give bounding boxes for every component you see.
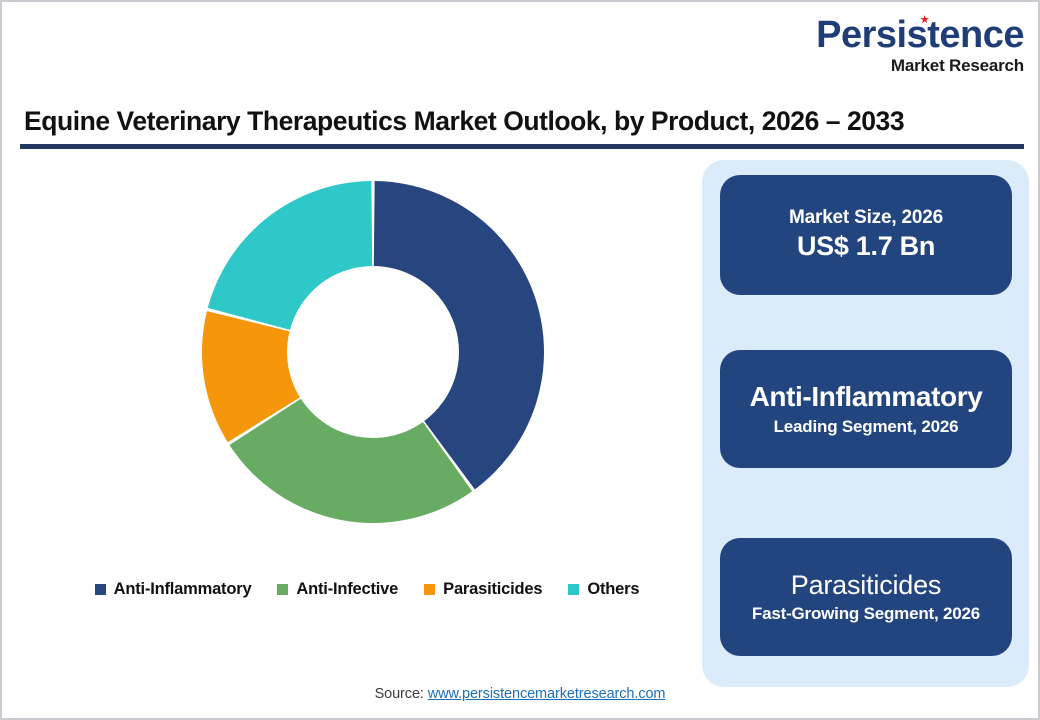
brand-name-text: Persistence xyxy=(816,14,1024,56)
stat-card-market-size[interactable]: Market Size, 2026 US$ 1.7 Bn xyxy=(720,175,1012,295)
legend-item[interactable]: Parasiticides xyxy=(424,580,542,599)
donut-slice-group xyxy=(202,181,544,523)
legend-swatch-icon xyxy=(95,584,106,595)
title-divider xyxy=(20,144,1024,149)
source-prefix: Source: xyxy=(375,686,428,702)
brand-name: Persistence xyxy=(816,16,1024,54)
brand-logo: Persistence Market Research xyxy=(796,16,1024,74)
legend-item[interactable]: Anti-Inflammatory xyxy=(95,580,252,599)
stat-card-3-label: Fast-Growing Segment, 2026 xyxy=(752,603,980,625)
legend-swatch-icon xyxy=(277,584,288,595)
stat-card-3-value: Parasiticides xyxy=(791,569,941,601)
stat-card-1-label: Market Size, 2026 xyxy=(789,206,943,230)
page-title: Equine Veterinary Therapeutics Market Ou… xyxy=(24,106,1014,137)
legend-swatch-icon xyxy=(568,584,579,595)
brand-tagline: Market Research xyxy=(796,57,1024,74)
stat-card-2-label: Leading Segment, 2026 xyxy=(774,416,959,438)
chart-legend: Anti-InflammatoryAnti-InfectiveParasitic… xyxy=(42,580,692,599)
stat-card-1-value: US$ 1.7 Bn xyxy=(797,230,935,264)
source-link[interactable]: www.persistencemarketresearch.com xyxy=(428,686,666,702)
infographic-page: Persistence Market Research Equine Veter… xyxy=(0,0,1040,720)
legend-item-label: Anti-Infective xyxy=(296,580,398,599)
source-note: Source: www.persistencemarketresearch.co… xyxy=(2,686,1038,702)
stat-card-leading-segment[interactable]: Anti-Inflammatory Leading Segment, 2026 xyxy=(720,350,1012,468)
stat-card-fast-growing-segment[interactable]: Parasiticides Fast-Growing Segment, 2026 xyxy=(720,538,1012,656)
legend-item[interactable]: Anti-Infective xyxy=(277,580,398,599)
stat-card-2-value: Anti-Inflammatory xyxy=(750,380,983,414)
legend-item[interactable]: Others xyxy=(568,580,639,599)
legend-item-label: Parasiticides xyxy=(443,580,542,599)
donut-chart xyxy=(2,157,692,557)
legend-swatch-icon xyxy=(424,584,435,595)
donut-slice-others[interactable] xyxy=(208,181,372,330)
stats-panel: Market Size, 2026 US$ 1.7 Bn Anti-Inflam… xyxy=(702,160,1029,687)
donut-chart-svg xyxy=(198,177,548,527)
legend-item-label: Others xyxy=(587,580,639,599)
legend-item-label: Anti-Inflammatory xyxy=(114,580,252,599)
